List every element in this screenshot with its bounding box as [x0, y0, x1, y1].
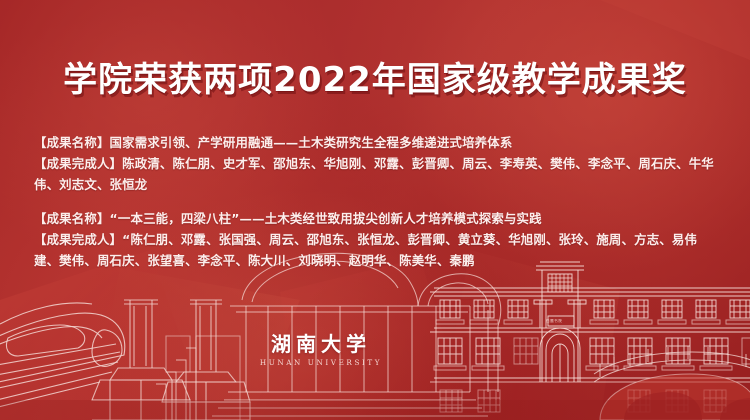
achievement-1-people-line-2: 伟、刘志文、张恒龙: [34, 174, 718, 195]
achievement-2: 【成果名称】“一本三能，四梁八柱”——土木类经世致用拔尖创新人才培养模式探索与实…: [34, 208, 718, 271]
achievement-2-name-line: 【成果名称】“一本三能，四梁八柱”——土木类经世致用拔尖创新人才培养模式探索与实…: [34, 208, 718, 229]
achievement-1: 【成果名称】国家需求引领、产学研用融通——土木类研究生全程多维递进式培养体系 【…: [34, 132, 718, 195]
achievements-block: 【成果名称】国家需求引领、产学研用融通——土木类研究生全程多维递进式培养体系 【…: [34, 132, 718, 275]
achievement-1-name-line: 【成果名称】国家需求引领、产学研用融通——土木类研究生全程多维递进式培养体系: [34, 132, 718, 153]
title-container: 学院荣获两项2022年国家级教学成果奖: [0, 52, 750, 101]
high-speed-train-lineart: [0, 303, 125, 412]
campus-building-lineart: [430, 262, 750, 412]
university-name-en: HUNAN UNIVERSITY: [236, 358, 406, 367]
achievement-2-people-line-1: 【成果完成人】“陈仁朋、邓露、张国强、周云、邵旭东、张恒龙、彭晋卿、黄立葵、华旭…: [34, 229, 718, 250]
achievement-2-people-line-2: 建、樊伟、周石庆、张望喜、李念平、陈大川、刘晓明、赵明华、陈美华、秦鹏: [34, 250, 718, 271]
university-logo: 湖南大学 HUNAN UNIVERSITY: [236, 333, 406, 367]
poster-banner: 岳麓书院 学院荣获两项2022年国家级教学成果奖 【成果名称】国家需求引领、产学…: [0, 0, 750, 420]
building-windows-ground: [440, 390, 726, 412]
building-plaque-text: 岳麓书院: [546, 319, 562, 324]
building-windows-middle: [434, 338, 750, 370]
auditorium-lineart: [156, 253, 501, 420]
bridge-piers-lineart: [92, 300, 250, 420]
achievement-1-people-line-1: 【成果完成人】陈政清、陈仁朋、史才军、邵旭东、华旭刚、邓露、彭晋卿、周云、李寿英…: [34, 153, 718, 174]
arch-bridge-lineart: [594, 346, 750, 420]
university-name-cn: 湖南大学: [236, 333, 406, 355]
page-title: 学院荣获两项2022年国家级教学成果奖: [63, 52, 687, 101]
building-windows-top: [436, 300, 750, 324]
